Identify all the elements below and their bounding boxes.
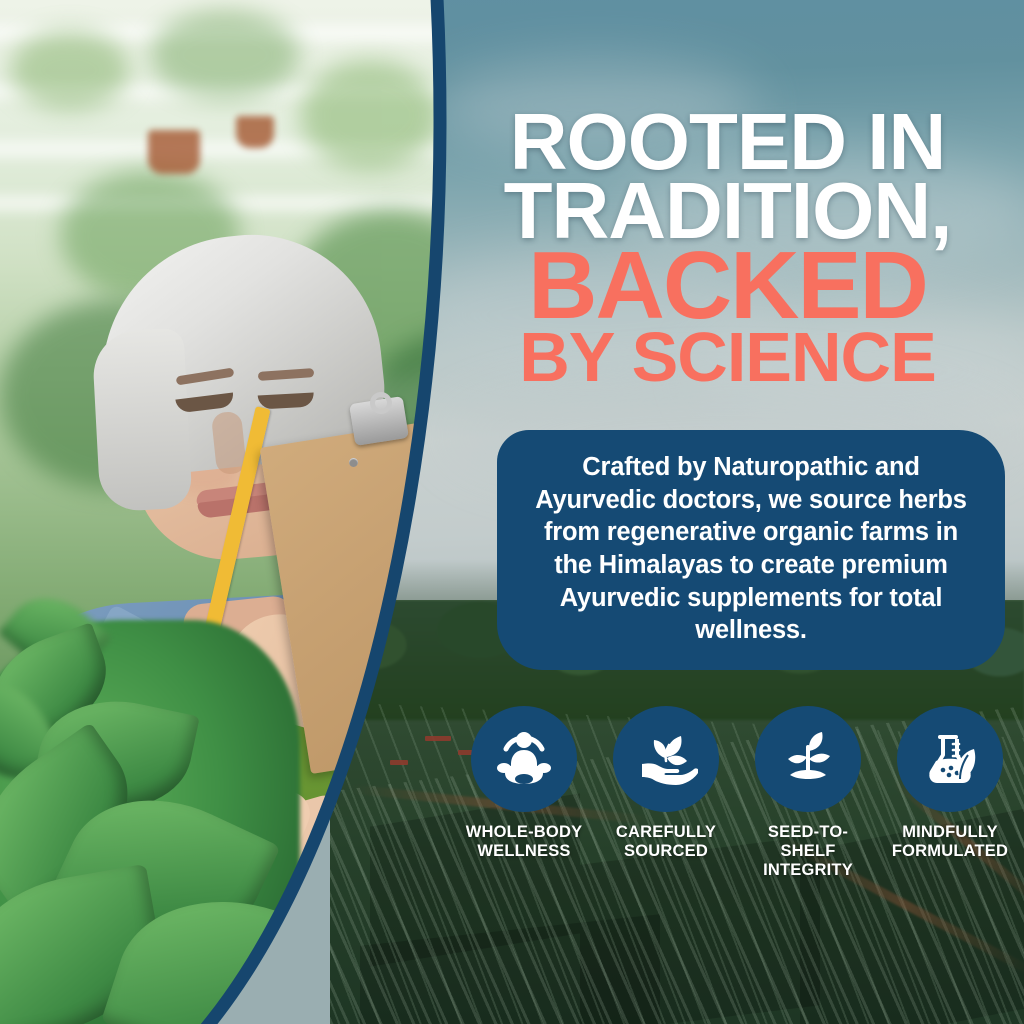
feature-label: SEED-TO-SHELF INTEGRITY	[742, 823, 874, 880]
feature-seed-to-shelf-integrity[interactable]: SEED-TO-SHELF INTEGRITY	[742, 706, 874, 880]
promotional-graphic: ROOTED IN TRADITION, BACKED BY SCIENCE C…	[0, 0, 1024, 1024]
headline-block: ROOTED IN TRADITION, BACKED BY SCIENCE	[455, 108, 1000, 387]
feature-icon-circle	[897, 706, 1003, 812]
grey-hair-side	[91, 328, 192, 513]
meditation-lotus-icon	[492, 727, 556, 791]
description-card: Crafted by Naturopathic and Ayurvedic do…	[497, 430, 1005, 670]
feature-carefully-sourced[interactable]: CAREFULLY SOURCED	[600, 706, 732, 861]
feature-row: WHOLE-BODY WELLNESS CAREFULLY SOURCED	[458, 706, 1016, 880]
feature-label: CAREFULLY SOURCED	[616, 823, 716, 861]
description-text: Crafted by Naturopathic and Ayurvedic do…	[523, 451, 979, 647]
farm-building	[390, 760, 408, 765]
seedling-sprout-icon	[776, 727, 840, 791]
hand-holding-leaf-icon	[634, 727, 698, 791]
headline-line-3: BACKED	[455, 246, 1000, 327]
flask-leaf-icon	[918, 727, 982, 791]
headline-line-4: BY SCIENCE	[455, 328, 1000, 387]
feature-icon-circle	[471, 706, 577, 812]
feature-icon-circle	[755, 706, 861, 812]
feature-icon-circle	[613, 706, 719, 812]
feature-label: MINDFULLY FORMULATED	[892, 823, 1008, 861]
farm-building	[425, 736, 451, 741]
clipboard-rivet	[349, 458, 358, 467]
feature-label: WHOLE-BODY WELLNESS	[466, 823, 583, 861]
feature-mindfully-formulated[interactable]: MINDFULLY FORMULATED	[884, 706, 1016, 861]
headline-line-1: ROOTED IN	[455, 108, 1000, 175]
feature-whole-body-wellness[interactable]: WHOLE-BODY WELLNESS	[458, 706, 590, 861]
